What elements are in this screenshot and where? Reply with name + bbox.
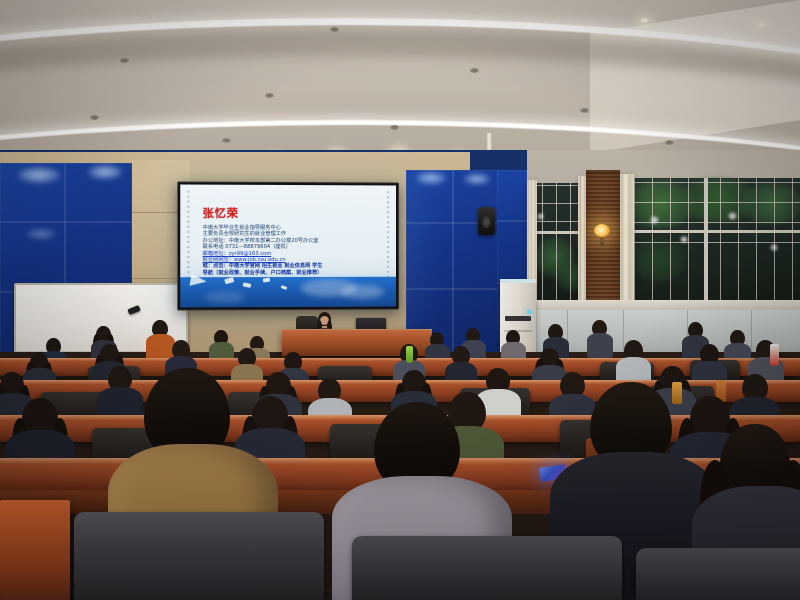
presentation-slide: 张忆荣 中南大学毕业生就业指导服务中心 主要负责全校研究生的就业管理工作 办公地… xyxy=(180,185,396,308)
paper-plane-icon xyxy=(189,274,207,289)
downlight-on xyxy=(757,22,766,27)
foreground-chair-left[interactable] xyxy=(74,512,324,600)
downlight xyxy=(580,108,589,113)
water-bottle[interactable] xyxy=(406,346,413,363)
air-conditioner-vent xyxy=(505,316,531,321)
downlight xyxy=(90,115,99,120)
downlight xyxy=(665,140,674,145)
foreground-desk-left xyxy=(0,500,70,600)
water-bottle[interactable] xyxy=(770,344,779,366)
foreground-chair-center[interactable] xyxy=(352,536,622,600)
lecture-hall-photo: 张忆荣 中南大学毕业生就业指导服务中心 主要负责全校研究生的就业管理工作 办公地… xyxy=(0,0,800,600)
speaker-cone-icon xyxy=(482,216,491,228)
air-conditioner-indicator-icon xyxy=(527,310,531,314)
window-right xyxy=(620,178,800,306)
slide-title: 张忆荣 xyxy=(203,205,239,221)
downlight xyxy=(120,58,129,63)
thermos-cup[interactable] xyxy=(672,382,682,404)
slide-footer-band xyxy=(180,277,396,308)
slide-link-line: 导航（就业政策、就业手续、户口档案、就业推荐） xyxy=(203,270,387,277)
downlight xyxy=(470,68,479,73)
downlight xyxy=(222,138,231,143)
downlight xyxy=(390,125,399,130)
slide-body: 中南大学毕业生就业指导服务中心 主要负责全校研究生的就业管理工作 办公地址：中南… xyxy=(203,225,387,277)
foreground-chair-right[interactable] xyxy=(636,548,800,600)
downlight xyxy=(330,27,339,32)
downlight-on xyxy=(640,18,649,23)
downlight xyxy=(265,93,274,98)
wall-sconce-light xyxy=(594,224,610,237)
blue-wall-panel-mid xyxy=(406,170,502,355)
air-conditioner-top xyxy=(500,279,536,283)
projection-screen: 张忆荣 中南大学毕业生就业指导服务中心 主要负责全校研究生的就业管理工作 办公地… xyxy=(177,181,399,310)
